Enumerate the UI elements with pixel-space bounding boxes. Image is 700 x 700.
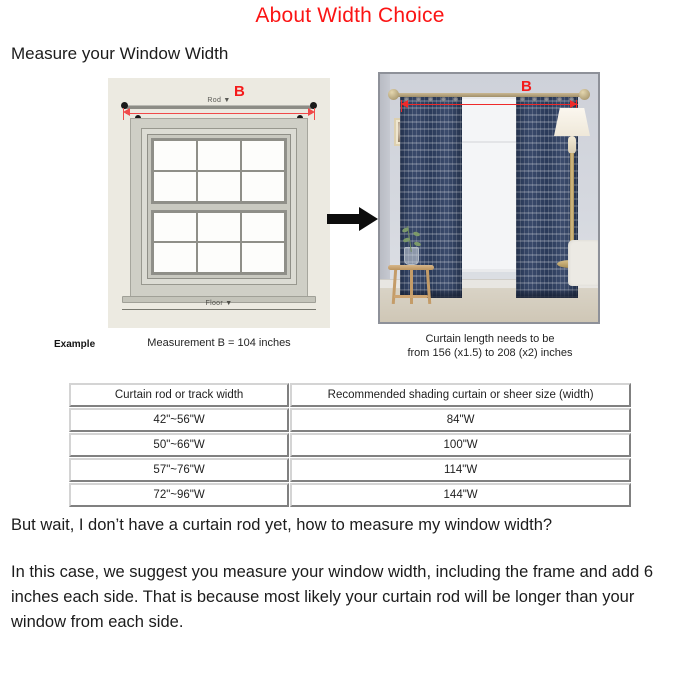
curtain-rod-line [124,105,314,109]
window-measurement-diagram: B Rod ▼ [108,78,330,328]
table-header-rod-width: Curtain rod or track width [69,383,289,407]
table-row: 72"~96"W 144"W [69,483,631,507]
table-cell-recommended-size: 144"W [290,483,631,507]
window-pane [198,141,240,170]
photo-caption-line2: from 156 (x1.5) to 208 (x2) inches [370,346,610,360]
table-row: 42"~56"W 84"W [69,408,631,432]
window-frame-outer [130,118,308,300]
floor-lamp-neck [568,136,576,154]
curtain-room-photo: B [378,72,600,324]
table-row: 50"~66"W 100"W [69,433,631,457]
window-pane [154,213,196,242]
photo-b-label: B [521,78,532,95]
table-cell-rod-width: 50"~66"W [69,433,289,457]
rod-finial-right [579,89,590,100]
dimension-tick-left [123,108,124,120]
measurement-caption: Measurement B = 104 inches [108,337,330,349]
example-label: Example [54,339,95,350]
table-header-row: Curtain rod or track width Recommended s… [69,383,631,407]
floor-label: Floor ▼ [108,300,330,307]
floor-lamp-shade [554,108,590,136]
table-header-recommended-size: Recommended shading curtain or sheer siz… [290,383,631,407]
sofa-corner [568,240,598,286]
window-pane [154,243,196,272]
window-sash-lower [151,210,287,276]
window-pane [154,172,196,201]
photo-curtain-rod [394,93,586,97]
window-pane [198,243,240,272]
right-arrow-icon [327,206,379,232]
side-table-leg [410,268,413,304]
table-cell-recommended-size: 100"W [290,433,631,457]
window-sash-upper [151,138,287,204]
table-cell-rod-width: 72"~96"W [69,483,289,507]
grommet-icon [453,97,458,102]
photo-caption: Curtain length needs to be from 156 (x1.… [370,332,610,360]
grommet-icon [557,97,562,102]
photo-dimension-line-b [404,104,578,105]
window-pane [154,141,196,170]
paragraph-question: But wait, I don’t have a curtain rod yet… [11,513,671,538]
photo-dimension-tick-left [401,100,402,112]
grommet-icon [416,97,421,102]
page-title: About Width Choice [0,4,700,28]
paragraph-advice: In this case, we suggest you measure you… [11,560,671,635]
photo-window [458,96,524,272]
dimension-line-b [126,113,312,114]
grommet-icon [544,97,549,102]
window-frame-inner [147,134,291,279]
rod-finial-left [388,89,399,100]
window-pane [242,141,284,170]
dimension-tick-right [314,108,315,120]
dimension-arrow-left-icon [123,108,130,116]
table-cell-recommended-size: 84"W [290,408,631,432]
grommet-icon [428,97,433,102]
table-cell-recommended-size: 114"W [290,458,631,482]
section-subheading: Measure your Window Width [11,44,228,64]
curtain-sizing-table: Curtain rod or track width Recommended s… [68,382,632,508]
window-pane [198,213,240,242]
side-table-top [388,265,434,270]
window-pane [242,213,284,242]
grommet-icon [532,97,537,102]
window-pane [198,172,240,201]
window-pane [242,243,284,272]
table-cell-rod-width: 42"~56"W [69,408,289,432]
grommet-icon [441,97,446,102]
photo-dimension-arrow-left-icon [401,100,408,108]
side-table-shelf [394,295,428,298]
table-cell-rod-width: 57"~76"W [69,458,289,482]
grommet-icon [520,97,525,102]
window-pane [242,172,284,201]
table-row: 57"~76"W 114"W [69,458,631,482]
floor-line [122,309,316,310]
window-frame-middle [141,128,297,285]
photo-caption-line1: Curtain length needs to be [370,332,610,346]
rod-label: Rod ▼ [108,97,330,104]
